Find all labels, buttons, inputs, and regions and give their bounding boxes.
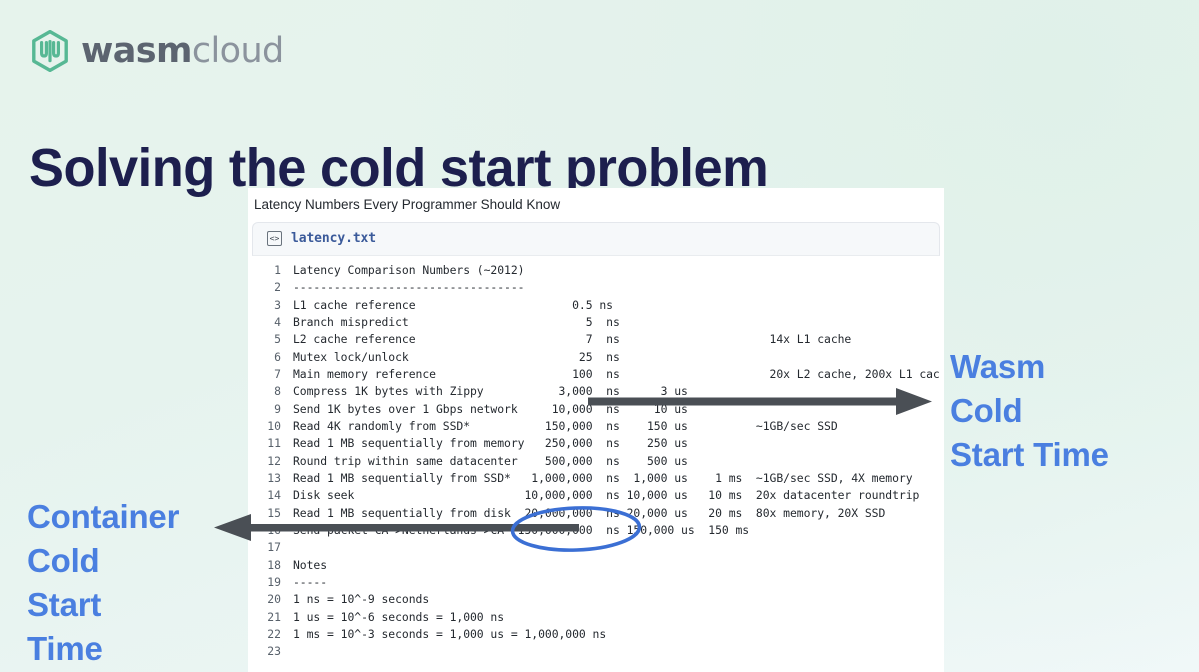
line-content: Round trip within same datacenter 500,00… [293,453,940,470]
line-content: ---------------------------------- [293,279,940,296]
brand-word-cloud: cloud [192,31,284,71]
code-line: 201 ns = 10^-9 seconds [252,591,940,608]
line-number: 8 [252,383,293,400]
line-number: 13 [252,470,293,487]
line-number: 4 [252,314,293,331]
line-content: Mutex lock/unlock 25 ns [293,349,940,366]
line-number: 12 [252,453,293,470]
code-line: 13Read 1 MB sequentially from SSD* 1,000… [252,470,940,487]
line-content: Read 1 MB sequentially from SSD* 1,000,0… [293,470,940,487]
line-number: 14 [252,487,293,504]
file-tab[interactable]: <> latency.txt [252,222,940,256]
line-number: 18 [252,557,293,574]
container-cold-start-label: Container Cold Start Time [27,495,179,671]
line-number: 20 [252,591,293,608]
code-line: 7Main memory reference 100 ns 20x L2 cac… [252,366,940,383]
code-line: 4Branch mispredict 5 ns [252,314,940,331]
line-content: 1 ns = 10^-9 seconds [293,591,940,608]
code-line: 211 us = 10^-6 seconds = 1,000 ns [252,609,940,626]
line-number: 19 [252,574,293,591]
brand-word-wasm: wasm [81,31,192,71]
line-content: 1 us = 10^-6 seconds = 1,000 ns [293,609,940,626]
line-number: 11 [252,435,293,452]
line-number: 5 [252,331,293,348]
wasm-cold-start-label: Wasm Cold Start Time [950,345,1109,477]
line-number: 3 [252,297,293,314]
line-content: ----- [293,574,940,591]
code-line: 3L1 cache reference 0.5 ns [252,297,940,314]
line-number: 23 [252,643,293,660]
code-line: 221 ms = 10^-3 seconds = 1,000 us = 1,00… [252,626,940,643]
wasm-cold-start-arrow [588,382,933,424]
code-card: Latency Numbers Every Programmer Should … [248,188,944,672]
line-number: 9 [252,401,293,418]
code-line: 23 [252,643,940,660]
line-number: 21 [252,609,293,626]
code-line: 19----- [252,574,940,591]
brand-logo: wasmcloud [31,30,284,72]
line-number: 1 [252,262,293,279]
line-number: 22 [252,626,293,643]
code-body: 1Latency Comparison Numbers (~2012)2----… [252,256,940,668]
code-line: 5L2 cache reference 7 ns 14x L1 cache [252,331,940,348]
line-content: Main memory reference 100 ns 20x L2 cach… [293,366,940,383]
wasmcloud-hex-logo-icon [31,30,69,72]
line-number: 6 [252,349,293,366]
line-number: 2 [252,279,293,296]
line-number: 7 [252,366,293,383]
code-line: 6Mutex lock/unlock 25 ns [252,349,940,366]
line-number: 10 [252,418,293,435]
code-line: 2---------------------------------- [252,279,940,296]
line-content: L1 cache reference 0.5 ns [293,297,940,314]
code-line: 12Round trip within same datacenter 500,… [252,453,940,470]
line-content: 1 ms = 10^-3 seconds = 1,000 us = 1,000,… [293,626,940,643]
line-content: L2 cache reference 7 ns 14x L1 cache [293,331,940,348]
slide-canvas: wasmcloud Solving the cold start problem… [0,0,1199,672]
card-caption: Latency Numbers Every Programmer Should … [248,188,944,222]
file-tab-label: latency.txt [291,231,376,246]
code-line: 1Latency Comparison Numbers (~2012) [252,262,940,279]
code-file-icon: <> [267,231,282,246]
highlight-ellipse-150ms [506,502,652,560]
line-content [293,643,940,660]
brand-wordmark: wasmcloud [81,34,284,69]
line-content: Latency Comparison Numbers (~2012) [293,262,940,279]
line-content: Branch mispredict 5 ns [293,314,940,331]
line-content: Read 1 MB sequentially from memory 250,0… [293,435,940,452]
code-line: 11Read 1 MB sequentially from memory 250… [252,435,940,452]
